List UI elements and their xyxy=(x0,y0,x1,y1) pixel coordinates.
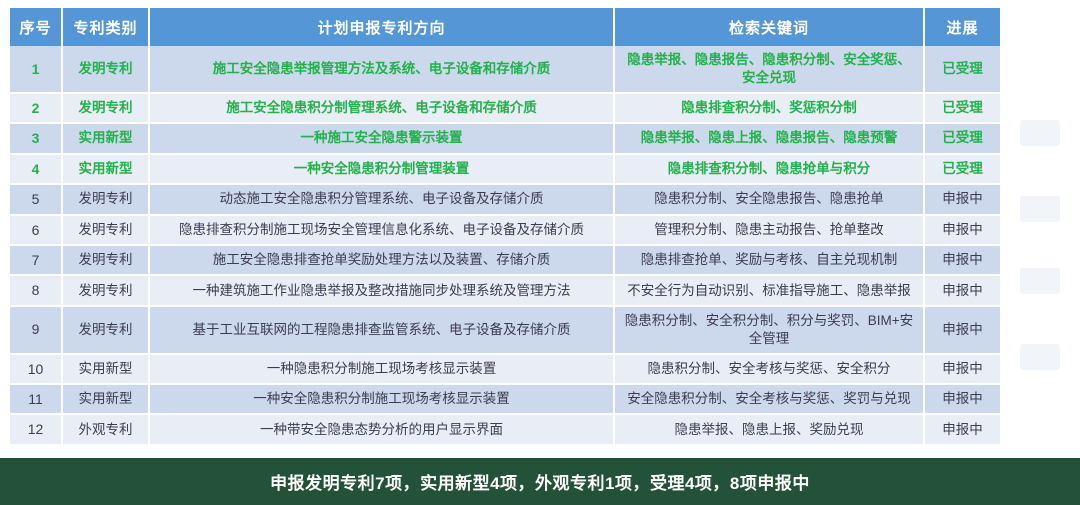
cell-keywords: 管理积分制、隐患主动报告、抢单整改 xyxy=(614,215,924,245)
cell-seq: 1 xyxy=(10,46,62,93)
cell-keywords: 隐患排查抢单、奖励与考核、自主兑现机制 xyxy=(614,245,924,275)
cell-direction: 一种施工安全隐患警示装置 xyxy=(149,123,614,153)
cell-keywords: 隐患积分制、安全积分制、积分与奖罚、BIM+安全管理 xyxy=(614,306,924,354)
cell-type: 发明专利 xyxy=(62,46,149,93)
cell-progress: 已受理 xyxy=(924,93,1000,123)
table-row: 5发明专利动态施工安全隐患积分管理系统、电子设备及存储介质隐患积分制、安全隐患报… xyxy=(10,184,1000,214)
cell-progress: 申报中 xyxy=(924,354,1000,384)
table-row: 10实用新型一种隐患积分制施工现场考核显示装置隐患积分制、安全考核与奖惩、安全积… xyxy=(10,354,1000,384)
table-row: 12外观专利一种带安全隐患态势分析的用户显示界面隐患举报、隐患上报、奖励兑现申报… xyxy=(10,414,1000,444)
cell-type: 外观专利 xyxy=(62,414,149,444)
column-header-type: 专利类别 xyxy=(62,8,149,46)
cell-direction: 一种安全隐患积分制管理装置 xyxy=(149,154,614,184)
cell-progress: 已受理 xyxy=(924,46,1000,93)
cell-seq: 10 xyxy=(10,354,62,384)
cell-type: 实用新型 xyxy=(62,123,149,153)
table-body: 1发明专利施工安全隐患举报管理方法及系统、电子设备和存储介质隐患举报、隐患报告、… xyxy=(10,46,1000,445)
table-row: 11实用新型一种安全隐患积分制施工现场考核显示装置安全隐患积分制、安全考核与奖惩… xyxy=(10,384,1000,414)
cell-type: 发明专利 xyxy=(62,93,149,123)
patent-table: 序号 专利类别 计划申报专利方向 检索关键词 进展 1发明专利施工安全隐患举报管… xyxy=(10,8,1000,446)
table-header-row: 序号 专利类别 计划申报专利方向 检索关键词 进展 xyxy=(10,8,1000,46)
cell-progress: 申报中 xyxy=(924,414,1000,444)
table-row: 8发明专利一种建筑施工作业隐患举报及整改措施同步处理系统及管理方法不安全行为自动… xyxy=(10,275,1000,305)
cell-seq: 12 xyxy=(10,414,62,444)
cell-keywords: 隐患排查积分制、奖惩积分制 xyxy=(614,93,924,123)
patent-table-container: 序号 专利类别 计划申报专利方向 检索关键词 进展 1发明专利施工安全隐患举报管… xyxy=(10,8,1000,446)
cell-keywords: 隐患积分制、安全考核与奖惩、安全积分 xyxy=(614,354,924,384)
column-header-direction: 计划申报专利方向 xyxy=(149,8,614,46)
cell-seq: 11 xyxy=(10,384,62,414)
cell-seq: 5 xyxy=(10,184,62,214)
cell-seq: 4 xyxy=(10,154,62,184)
cell-keywords: 隐患举报、隐患上报、奖励兑现 xyxy=(614,414,924,444)
cell-seq: 2 xyxy=(10,93,62,123)
cell-keywords: 隐患举报、隐患上报、隐患报告、隐患预警 xyxy=(614,123,924,153)
cell-seq: 3 xyxy=(10,123,62,153)
table-row: 1发明专利施工安全隐患举报管理方法及系统、电子设备和存储介质隐患举报、隐患报告、… xyxy=(10,46,1000,93)
cell-seq: 6 xyxy=(10,215,62,245)
table-header: 序号 专利类别 计划申报专利方向 检索关键词 进展 xyxy=(10,8,1000,46)
cell-type: 发明专利 xyxy=(62,245,149,275)
cell-progress: 申报中 xyxy=(924,215,1000,245)
cell-progress: 已受理 xyxy=(924,154,1000,184)
cell-direction: 隐患排查积分制施工现场安全管理信息化系统、电子设备及存储介质 xyxy=(149,215,614,245)
cell-type: 实用新型 xyxy=(62,384,149,414)
cell-direction: 一种建筑施工作业隐患举报及整改措施同步处理系统及管理方法 xyxy=(149,275,614,305)
cell-type: 实用新型 xyxy=(62,154,149,184)
table-row: 7发明专利施工安全隐患排查抢单奖励处理方法以及装置、存储介质隐患排查抢单、奖励与… xyxy=(10,245,1000,275)
table-row: 2发明专利施工安全隐患积分制管理系统、电子设备和存储介质隐患排查积分制、奖惩积分… xyxy=(10,93,1000,123)
cell-type: 发明专利 xyxy=(62,306,149,354)
cell-direction: 基于工业互联网的工程隐患排查监管系统、电子设备及存储介质 xyxy=(149,306,614,354)
cell-seq: 7 xyxy=(10,245,62,275)
cell-direction: 一种安全隐患积分制施工现场考核显示装置 xyxy=(149,384,614,414)
cell-keywords: 隐患积分制、安全隐患报告、隐患抢单 xyxy=(614,184,924,214)
cell-direction: 施工安全隐患排查抢单奖励处理方法以及装置、存储介质 xyxy=(149,245,614,275)
cell-seq: 9 xyxy=(10,306,62,354)
column-header-seq: 序号 xyxy=(10,8,62,46)
table-row: 3实用新型一种施工安全隐患警示装置隐患举报、隐患上报、隐患报告、隐患预警已受理 xyxy=(10,123,1000,153)
cell-keywords: 不安全行为自动识别、标准指导施工、隐患举报 xyxy=(614,275,924,305)
cell-keywords: 隐患举报、隐患报告、隐患积分制、安全奖惩、安全兑现 xyxy=(614,46,924,93)
cell-seq: 8 xyxy=(10,275,62,305)
cell-direction: 一种隐患积分制施工现场考核显示装置 xyxy=(149,354,614,384)
cell-type: 发明专利 xyxy=(62,275,149,305)
table-row: 4实用新型一种安全隐患积分制管理装置隐患排查积分制、隐患抢单与积分已受理 xyxy=(10,154,1000,184)
cell-keywords: 隐患排查积分制、隐患抢单与积分 xyxy=(614,154,924,184)
cell-direction: 施工安全隐患积分制管理系统、电子设备和存储介质 xyxy=(149,93,614,123)
cell-direction: 动态施工安全隐患积分管理系统、电子设备及存储介质 xyxy=(149,184,614,214)
cell-progress: 申报中 xyxy=(924,384,1000,414)
column-header-keywords: 检索关键词 xyxy=(614,8,924,46)
patent-plan-slide: 序号 专利类别 计划申报专利方向 检索关键词 进展 1发明专利施工安全隐患举报管… xyxy=(0,0,1080,505)
cell-direction: 一种带安全隐患态势分析的用户显示界面 xyxy=(149,414,614,444)
cell-progress: 申报中 xyxy=(924,245,1000,275)
summary-footer-bar: 申报发明专利7项，实用新型4项，外观专利1项，受理4项，8项申报中 xyxy=(0,458,1080,505)
summary-footer-text: 申报发明专利7项，实用新型4项，外观专利1项，受理4项，8项申报中 xyxy=(270,469,810,494)
cell-direction: 施工安全隐患举报管理方法及系统、电子设备和存储介质 xyxy=(149,46,614,93)
table-row: 6发明专利隐患排查积分制施工现场安全管理信息化系统、电子设备及存储介质管理积分制… xyxy=(10,215,1000,245)
cell-type: 发明专利 xyxy=(62,215,149,245)
cell-type: 实用新型 xyxy=(62,354,149,384)
cell-progress: 申报中 xyxy=(924,184,1000,214)
table-row: 9发明专利基于工业互联网的工程隐患排查监管系统、电子设备及存储介质隐患积分制、安… xyxy=(10,306,1000,354)
cell-progress: 申报中 xyxy=(924,306,1000,354)
cell-progress: 申报中 xyxy=(924,275,1000,305)
cell-type: 发明专利 xyxy=(62,184,149,214)
cell-keywords: 安全隐患积分制、安全考核与奖惩、奖罚与兑现 xyxy=(614,384,924,414)
cell-progress: 已受理 xyxy=(924,123,1000,153)
column-header-progress: 进展 xyxy=(924,8,1000,46)
